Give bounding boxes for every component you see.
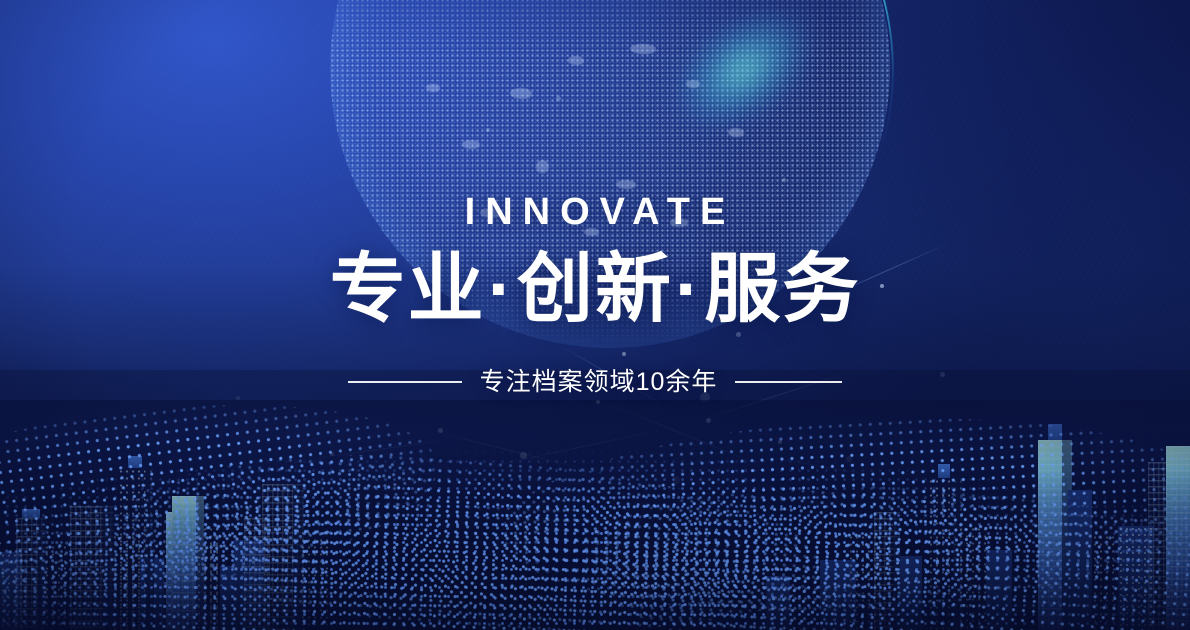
banner-subtitle: 专注档案领域10余年 bbox=[480, 366, 718, 399]
hero-banner: INNOVATE 专业·创新·服务 专注档案领域10余年 bbox=[0, 0, 1190, 630]
banner-headline: 专业·创新·服务 bbox=[0, 248, 1190, 332]
banner-subtitle-row: 专注档案领域10余年 bbox=[0, 366, 1190, 399]
banner-kicker: INNOVATE bbox=[0, 193, 1190, 231]
headline-word-3: 服务 bbox=[704, 247, 860, 332]
headline-separator: · bbox=[486, 247, 517, 332]
headline-separator: · bbox=[673, 247, 704, 332]
divider-rule-right bbox=[735, 381, 842, 383]
headline-word-1: 专业 bbox=[330, 247, 486, 332]
headline-word-2: 创新 bbox=[517, 247, 673, 332]
divider-rule-left bbox=[348, 381, 462, 383]
